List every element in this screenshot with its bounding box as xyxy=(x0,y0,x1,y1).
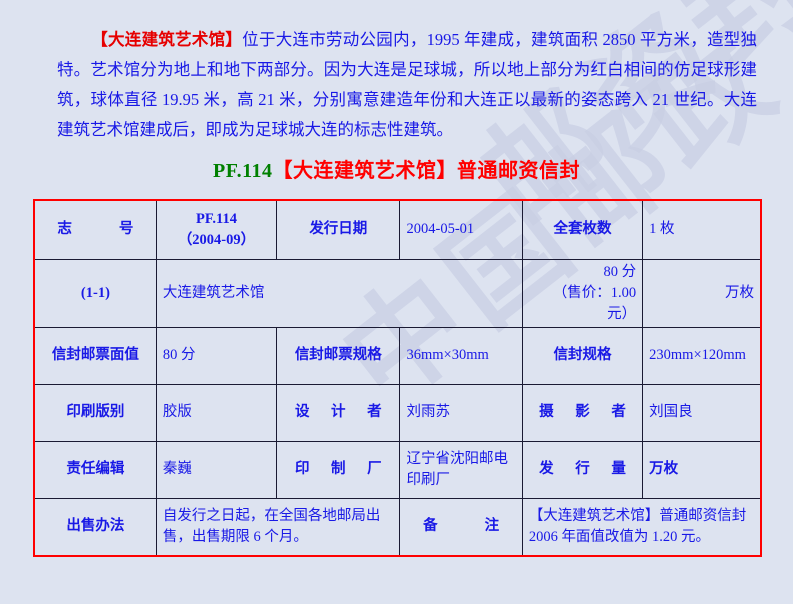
cell-value-stamp-face-value: 80 分 xyxy=(156,327,276,384)
table-row: 信封邮票面值 80 分 信封邮票规格 36mm×30mm 信封规格 230mm×… xyxy=(34,327,761,384)
cell-value-issue-date: 2004-05-01 xyxy=(400,200,522,259)
intro-highlight: 【大连建筑艺术馆】 xyxy=(91,30,242,49)
cell-label-piece-no: (1-1) xyxy=(34,259,156,327)
cell-label-photographer: 摄 影 者 xyxy=(522,384,642,441)
stamp-spec-table: 志 号 PF.114 （2004-09） 发行日期 2004-05-01 全套枚… xyxy=(33,199,762,557)
face-value: 80 分 xyxy=(529,262,636,283)
title-code: PF.114 xyxy=(213,160,273,182)
cell-label-print-quantity: 发 行 量 xyxy=(522,441,642,498)
cell-value-stamp-size: 36mm×30mm xyxy=(400,327,522,384)
cell-label-stamp-size: 信封邮票规格 xyxy=(277,327,400,384)
cell-label-serial: 志 号 xyxy=(34,200,156,259)
cell-value-print-type: 胶版 xyxy=(156,384,276,441)
cell-value-editor: 秦巍 xyxy=(156,441,276,498)
cell-value-set-count: 1 枚 xyxy=(643,200,761,259)
serial-year: （2004-09） xyxy=(163,230,270,251)
cell-label-printer: 印 制 厂 xyxy=(277,441,400,498)
serial-code: PF.114 xyxy=(163,209,270,230)
table-row: 印刷版别 胶版 设 计 者 刘雨苏 摄 影 者 刘国良 xyxy=(34,384,761,441)
cell-label-envelope-size: 信封规格 xyxy=(522,327,642,384)
cell-value-remarks: 【大连建筑艺术馆】普通邮资信封 2006 年面值改值为 1.20 元。 xyxy=(522,498,761,556)
cell-value-designer: 刘雨苏 xyxy=(400,384,522,441)
cell-value-envelope-size: 230mm×120mm xyxy=(643,327,761,384)
intro-paragraph: 【大连建筑艺术馆】位于大连市劳动公园内，1995 年建成，建筑面积 2850 平… xyxy=(57,25,757,145)
cell-value-sale-method: 自发行之日起，在全国各地邮局出售，出售期限 6 个月。 xyxy=(156,498,400,556)
cell-value-serial: PF.114 （2004-09） xyxy=(156,200,276,259)
page-title: PF.114【大连建筑艺术馆】普通邮资信封 xyxy=(0,154,793,183)
cell-value-photographer: 刘国良 xyxy=(643,384,761,441)
cell-value-face-price: 80 分 （售价：1.00 元） xyxy=(522,259,642,327)
cell-label-set-count: 全套枚数 xyxy=(522,200,642,259)
page-root: 【大连建筑艺术馆】位于大连市劳动公园内，1995 年建成，建筑面积 2850 平… xyxy=(0,0,793,604)
sale-price: （售价：1.00 元） xyxy=(529,283,636,325)
cell-label-editor: 责任编辑 xyxy=(34,441,156,498)
table-row: 志 号 PF.114 （2004-09） 发行日期 2004-05-01 全套枚… xyxy=(34,200,761,259)
cell-value-piece-title: 大连建筑艺术馆 xyxy=(156,259,522,327)
cell-label-print-type: 印刷版别 xyxy=(34,384,156,441)
cell-label-remarks: 备 注 xyxy=(400,498,522,556)
cell-value-printer: 辽宁省沈阳邮电印刷厂 xyxy=(400,441,522,498)
cell-label-designer: 设 计 者 xyxy=(277,384,400,441)
cell-label-stamp-face-value: 信封邮票面值 xyxy=(34,327,156,384)
cell-value-quantity-unit: 万枚 xyxy=(643,259,761,327)
table-row: 出售办法 自发行之日起，在全国各地邮局出售，出售期限 6 个月。 备 注 【大连… xyxy=(34,498,761,556)
cell-value-print-quantity: 万枚 xyxy=(643,441,761,498)
table-row: (1-1) 大连建筑艺术馆 80 分 （售价：1.00 元） 万枚 xyxy=(34,259,761,327)
title-name: 【大连建筑艺术馆】普通邮资信封 xyxy=(273,160,581,182)
table-row: 责任编辑 秦巍 印 制 厂 辽宁省沈阳邮电印刷厂 发 行 量 万枚 xyxy=(34,441,761,498)
cell-label-issue-date: 发行日期 xyxy=(277,200,400,259)
cell-label-sale-method: 出售办法 xyxy=(34,498,156,556)
